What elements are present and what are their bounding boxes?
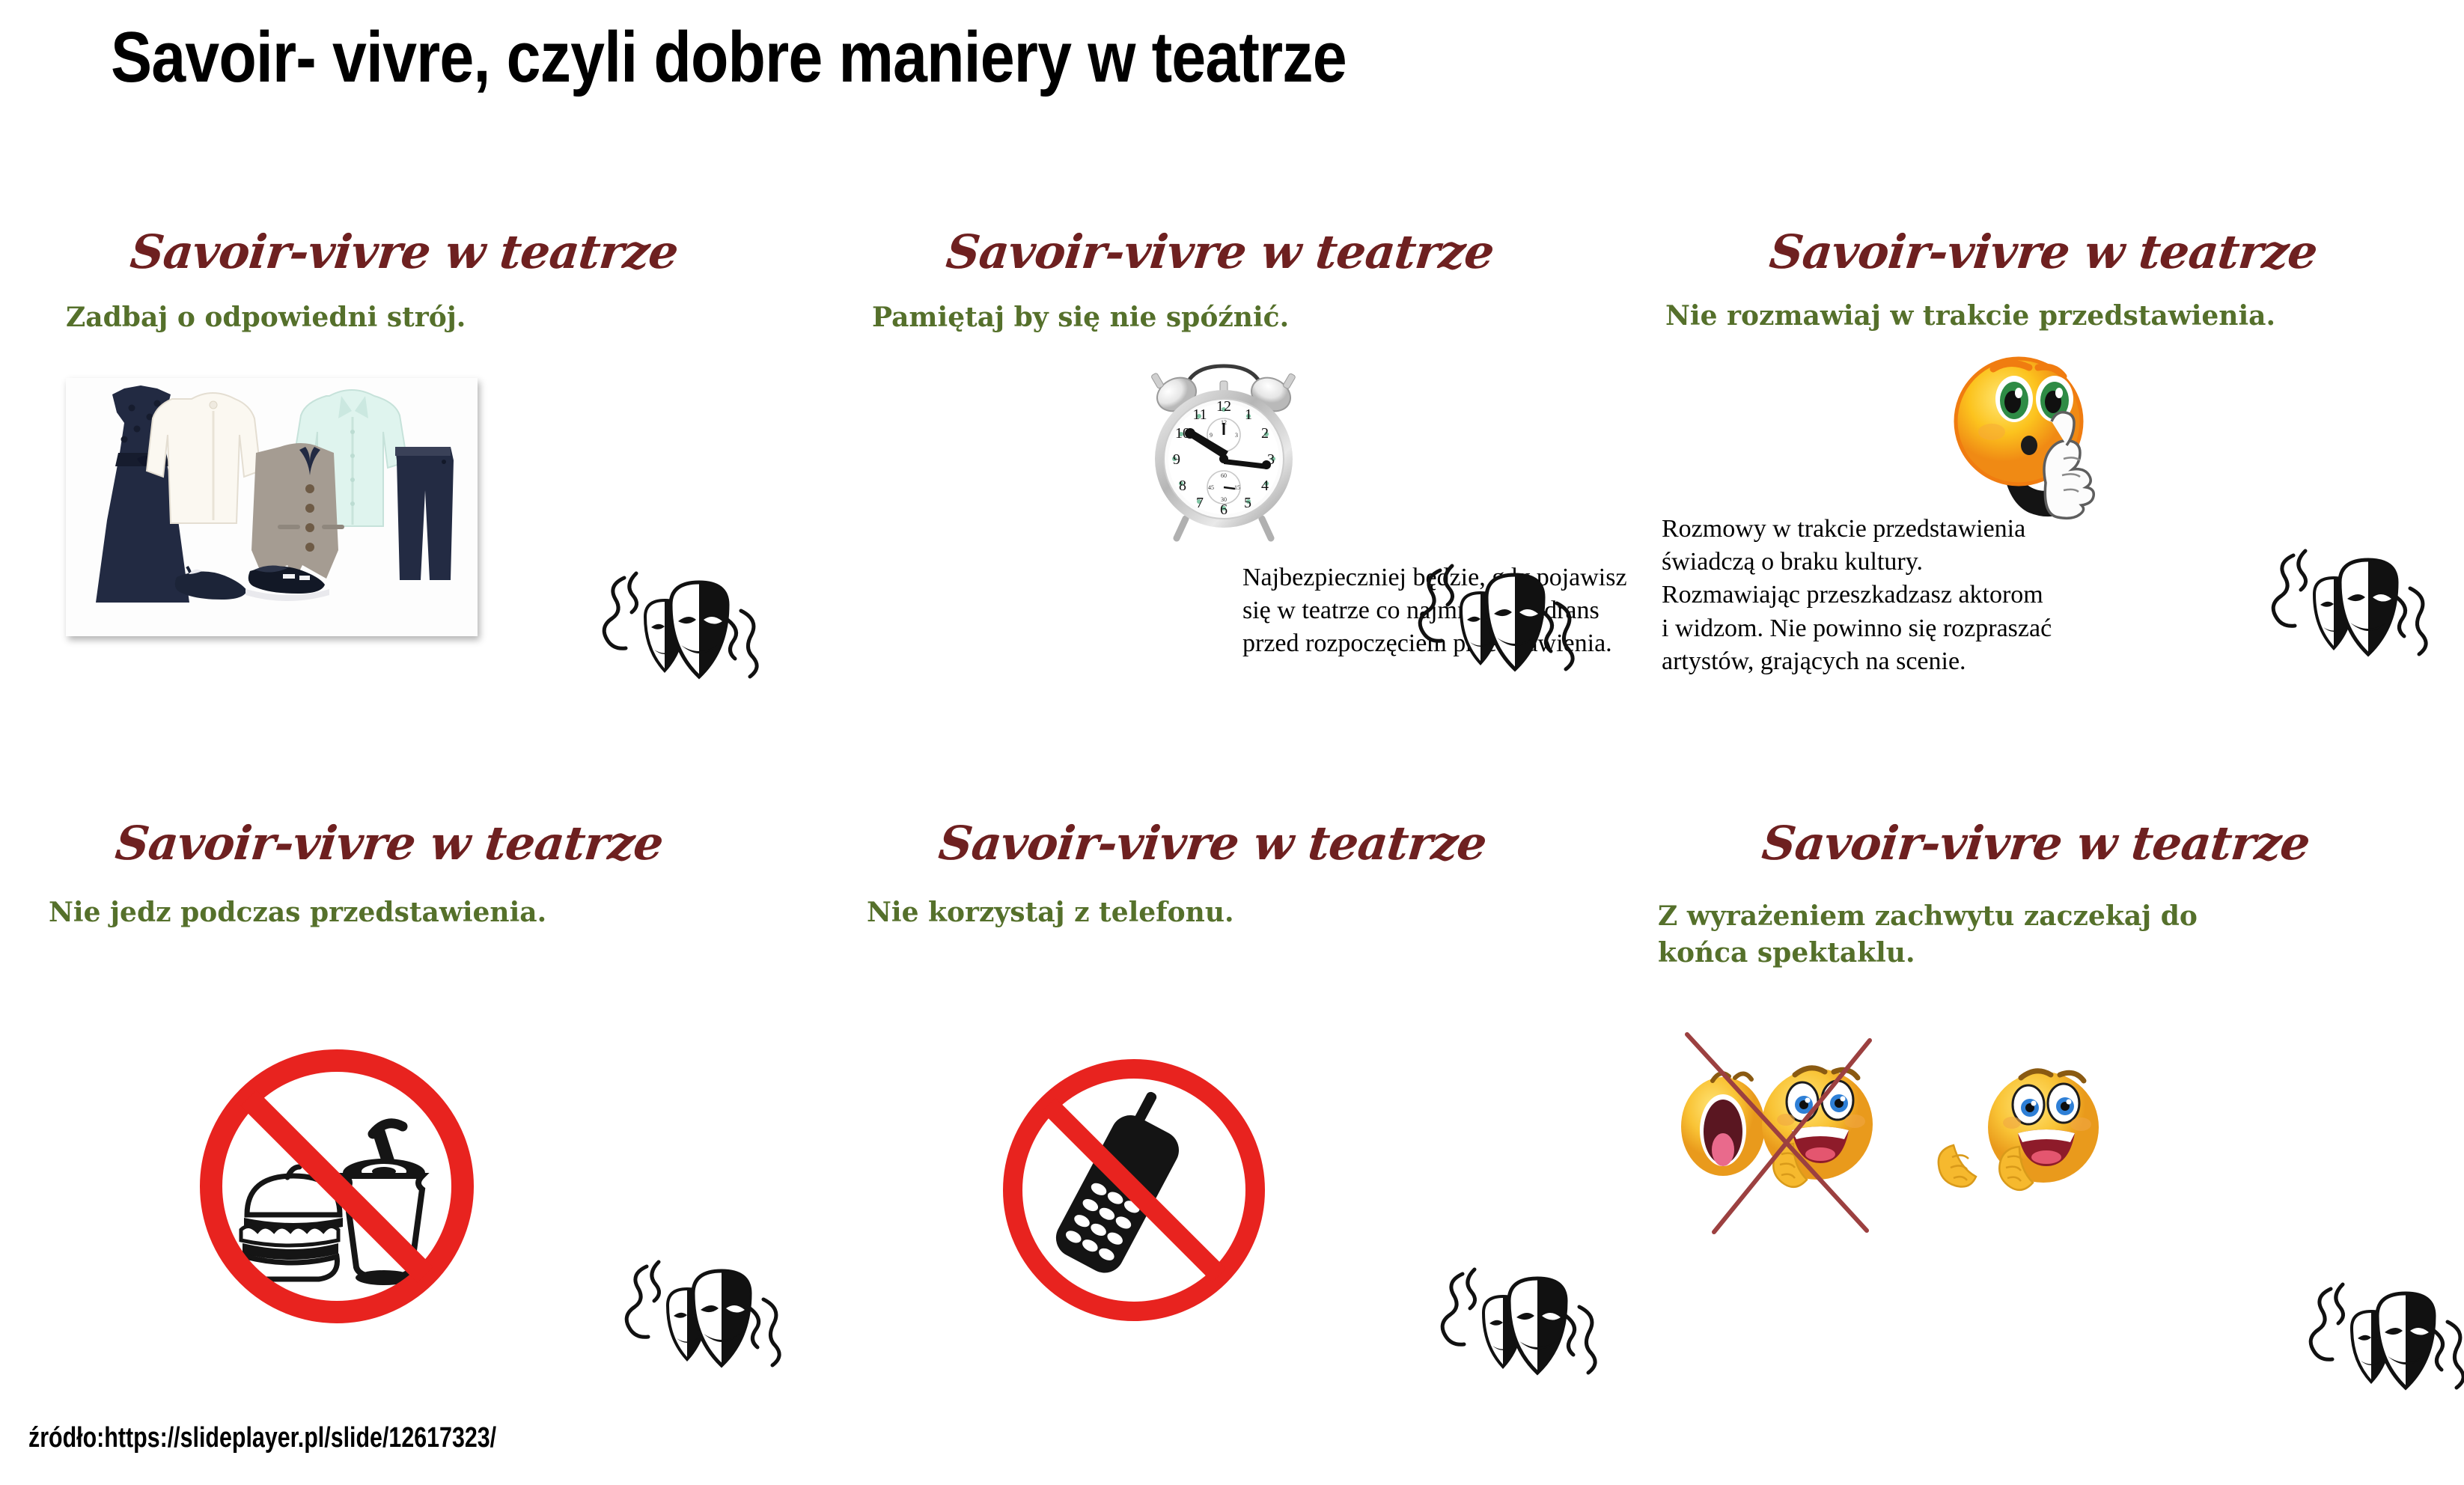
svg-text:3: 3 xyxy=(1235,432,1238,439)
alarm-clock-image: 1212 345 678 91011 1239 6015 3045 xyxy=(1138,348,1310,543)
card-subtitle: Z wyrażeniem zachwytu zaczekaj do końca … xyxy=(1658,898,2279,971)
svg-text:60: 60 xyxy=(1221,472,1227,479)
svg-text:7: 7 xyxy=(1196,495,1204,511)
rule-card-applause-at-end: Savoir-vivre w teatrze Z wyrażeniem zach… xyxy=(1639,778,2455,1370)
card-subtitle: Zadbaj o odpowiedni strój. xyxy=(66,299,466,336)
svg-text:5: 5 xyxy=(1244,495,1251,511)
card-title: Savoir-vivre w teatrze xyxy=(12,816,766,870)
rule-card-dress-code: Savoir-vivre w teatrze Zadbaj o odpowied… xyxy=(30,187,846,778)
card-title: Savoir-vivre w teatrze xyxy=(1659,816,2413,870)
svg-text:30: 30 xyxy=(1221,496,1227,503)
theatre-masks-logo xyxy=(599,561,763,704)
svg-text:9: 9 xyxy=(1210,432,1213,439)
crossed-shouting-emoji-and-clapping-emoji xyxy=(1654,1018,2118,1235)
no-food-sign xyxy=(195,1044,479,1329)
rule-card-punctuality: Savoir-vivre w teatrze Pamiętaj by się n… xyxy=(846,187,1662,778)
card-title: Savoir-vivre w teatrze xyxy=(27,225,781,279)
clapping-emoji xyxy=(1939,1071,2099,1190)
rule-card-no-phone: Savoir-vivre w teatrze Nie korzystaj z t… xyxy=(846,778,1662,1370)
card-body-text: Rozmowy w trakcie przedstawienia świadcz… xyxy=(1662,513,2230,678)
svg-text:8: 8 xyxy=(1179,478,1186,494)
svg-text:12: 12 xyxy=(1216,398,1231,415)
card-subtitle: Nie rozmawiaj w trakcie przedstawienia. xyxy=(1665,298,2275,335)
theatre-masks-logo xyxy=(1415,554,1579,696)
shouting-emoji xyxy=(1681,1073,1765,1176)
theatre-masks-logo xyxy=(621,1250,786,1392)
card-subtitle: Nie jedz podczas przedstawienia. xyxy=(49,894,722,931)
svg-text:9: 9 xyxy=(1173,451,1180,468)
theatre-masks-logo xyxy=(2305,1272,2464,1415)
theatre-masks-logo xyxy=(1437,1257,1602,1400)
source-citation: źródło:https://slideplayer.pl/slide/1261… xyxy=(28,1422,496,1454)
svg-text:45: 45 xyxy=(1208,484,1214,491)
card-subtitle: Nie korzystaj z telefonu. xyxy=(867,894,1234,931)
page-title: Savoir- vivre, czyli dobre maniery w tea… xyxy=(111,16,1347,99)
svg-text:11: 11 xyxy=(1192,406,1207,423)
svg-text:1: 1 xyxy=(1245,406,1252,423)
card-title: Savoir-vivre w teatrze xyxy=(843,225,1597,279)
rule-card-no-eating: Savoir-vivre w teatrze Nie jedz podczas … xyxy=(30,778,846,1370)
shushing-emoji xyxy=(1935,333,2114,520)
svg-text:15: 15 xyxy=(1234,484,1240,491)
cheering-emoji xyxy=(1762,1068,1873,1187)
card-title: Savoir-vivre w teatrze xyxy=(1666,225,2421,279)
svg-text:4: 4 xyxy=(1261,478,1269,494)
card-subtitle: Pamiętaj by się nie spóźnić. xyxy=(872,299,1289,336)
formal-clothing-photo xyxy=(66,378,478,636)
no-mobile-phone-sign xyxy=(995,1052,1272,1329)
rule-card-no-talking: Savoir-vivre w teatrze Nie rozmawiaj w t… xyxy=(1639,187,2455,778)
svg-text:2: 2 xyxy=(1261,425,1269,442)
theatre-masks-logo xyxy=(2268,539,2433,681)
card-title: Savoir-vivre w teatrze xyxy=(835,816,1590,870)
rules-grid: Savoir-vivre w teatrze Zadbaj o odpowied… xyxy=(0,187,2464,1400)
